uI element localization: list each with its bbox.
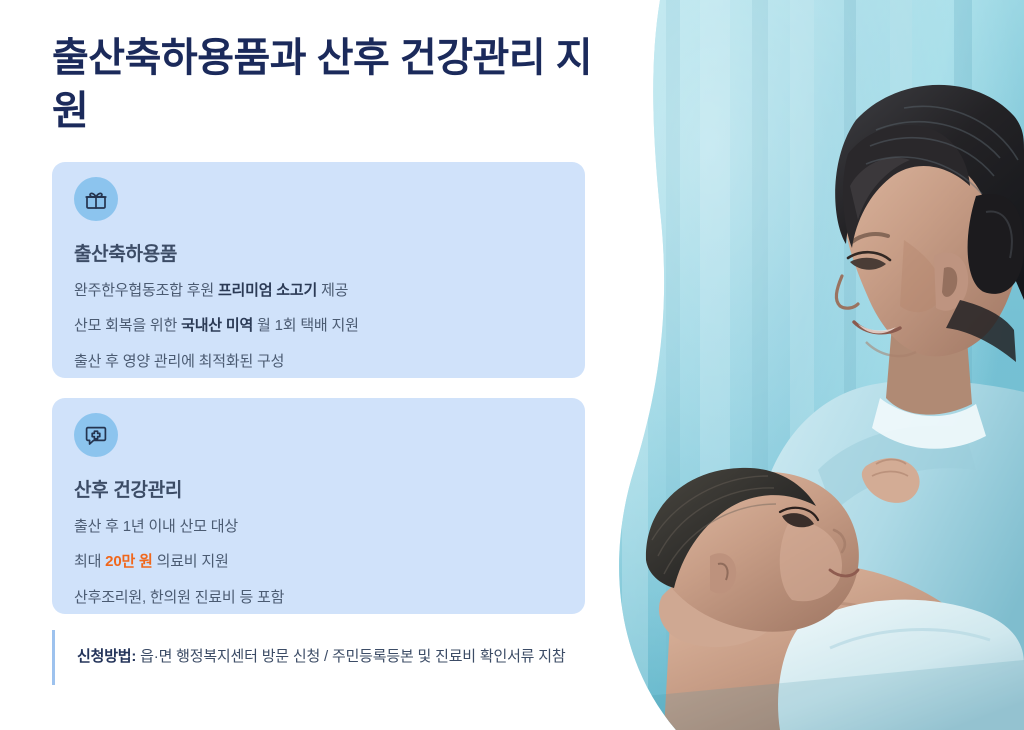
card-heading: 출산축하용품 [74, 239, 563, 266]
text-segment: 산모 회복을 위한 [74, 317, 181, 334]
application-method-note: 신청방법: 읍·면 행정복지센터 방문 신청 / 주민등록등본 및 진료비 확인… [52, 630, 612, 685]
text-segment: 20만 원 [105, 553, 152, 570]
gift-icon [74, 177, 118, 221]
text-segment: 출산 후 1년 이내 산모 대상 [74, 518, 238, 535]
card-line: 산모 회복을 위한 국내산 미역 월 1회 택배 지원 [74, 314, 563, 337]
card-line: 출산 후 영양 관리에 최적화된 구성 [74, 350, 563, 373]
card-line: 산후조리원, 한의원 진료비 등 포함 [74, 586, 563, 609]
benefit-card-health: 산후 건강관리 출산 후 1년 이내 산모 대상최대 20만 원 의료비 지원산… [52, 398, 585, 614]
text-segment: 제공 [317, 282, 348, 299]
hero-photo-illustration [604, 0, 1024, 730]
slide-canvas: 출산축하용품과 산후 건강관리 지원 출산축하용품 완주한우협동조합 후원 프리… [0, 0, 1024, 730]
text-segment: 프리미엄 소고기 [218, 282, 317, 299]
application-method-text: 신청방법: 읍·면 행정복지센터 방문 신청 / 주민등록등본 및 진료비 확인… [77, 646, 565, 669]
card-line: 완주한우협동조합 후원 프리미엄 소고기 제공 [74, 279, 563, 302]
card-lines: 출산 후 1년 이내 산모 대상최대 20만 원 의료비 지원산후조리원, 한의… [74, 515, 563, 609]
card-heading: 산후 건강관리 [74, 475, 563, 502]
benefit-card-gift: 출산축하용품 완주한우협동조합 후원 프리미엄 소고기 제공산모 회복을 위한 … [52, 162, 585, 378]
text-segment: 신청방법: [77, 648, 136, 665]
card-lines: 완주한우협동조합 후원 프리미엄 소고기 제공산모 회복을 위한 국내산 미역 … [74, 279, 563, 373]
text-segment: 산후조리원, 한의원 진료비 등 포함 [74, 589, 284, 606]
text-segment: 완주한우협동조합 후원 [74, 282, 218, 299]
page-title: 출산축하용품과 산후 건강관리 지원 [52, 32, 612, 138]
text-segment: 출산 후 영양 관리에 최적화된 구성 [74, 353, 284, 370]
text-segment: 의료비 지원 [153, 553, 229, 570]
hero-photo [604, 0, 1024, 730]
text-segment: 국내산 미역 [181, 317, 253, 334]
card-line: 출산 후 1년 이내 산모 대상 [74, 515, 563, 538]
card-line: 최대 20만 원 의료비 지원 [74, 550, 563, 573]
text-segment: 읍·면 행정복지센터 방문 신청 / 주민등록등본 및 진료비 확인서류 지참 [136, 648, 565, 665]
medical-chat-icon [74, 413, 118, 457]
text-segment: 월 1회 택배 지원 [253, 317, 359, 334]
text-segment: 최대 [74, 553, 105, 570]
